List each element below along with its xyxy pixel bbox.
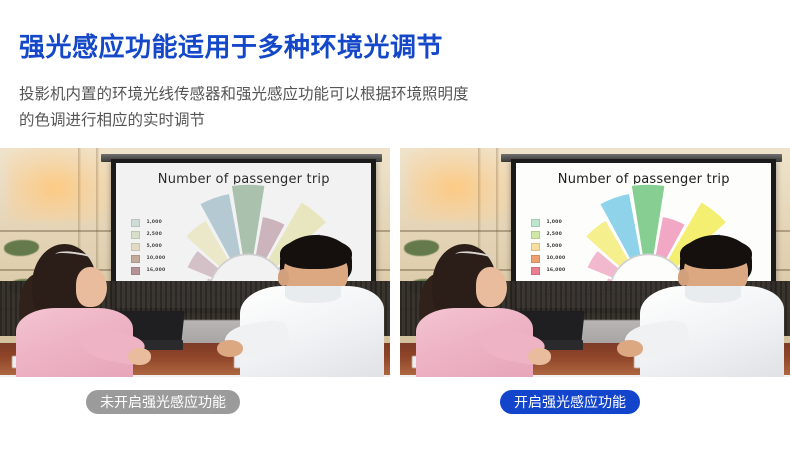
- comparison-photo-pair: Number of passenger trip 1,0002,5005,000…: [0, 148, 790, 377]
- hair: [680, 238, 752, 269]
- woman-presenter: [416, 244, 533, 377]
- photo-feature-off: Number of passenger trip 1,0002,5005,000…: [0, 148, 390, 377]
- man-viewer: [646, 235, 779, 377]
- caption-feature-off: 未开启强光感应功能: [86, 390, 240, 414]
- hair: [280, 238, 352, 269]
- hand: [617, 340, 644, 357]
- promo-page: 强光感应功能适用于多种环境光调节 投影机内置的环境光线传感器和强光感应功能可以根…: [0, 0, 790, 468]
- hand: [217, 340, 244, 357]
- page-headline: 强光感应功能适用于多种环境光调节: [19, 27, 443, 64]
- hand: [128, 348, 151, 365]
- subcopy-line-2: 的色调进行相应的实时调节: [19, 108, 739, 134]
- face: [76, 267, 106, 307]
- page-subcopy: 投影机内置的环境光线传感器和强光感应功能可以根据环境照明度 的色调进行相应的实时…: [19, 82, 739, 134]
- caption-feature-on: 开启强光感应功能: [500, 390, 640, 414]
- photo-feature-on: Number of passenger trip 1,0002,5005,000…: [400, 148, 790, 377]
- woman-presenter: [16, 244, 133, 377]
- collar: [685, 286, 741, 303]
- collar: [285, 286, 341, 303]
- subcopy-line-1: 投影机内置的环境光线传感器和强光感应功能可以根据环境照明度: [19, 82, 739, 108]
- face: [476, 267, 506, 307]
- hand: [528, 348, 551, 365]
- man-viewer: [246, 235, 379, 377]
